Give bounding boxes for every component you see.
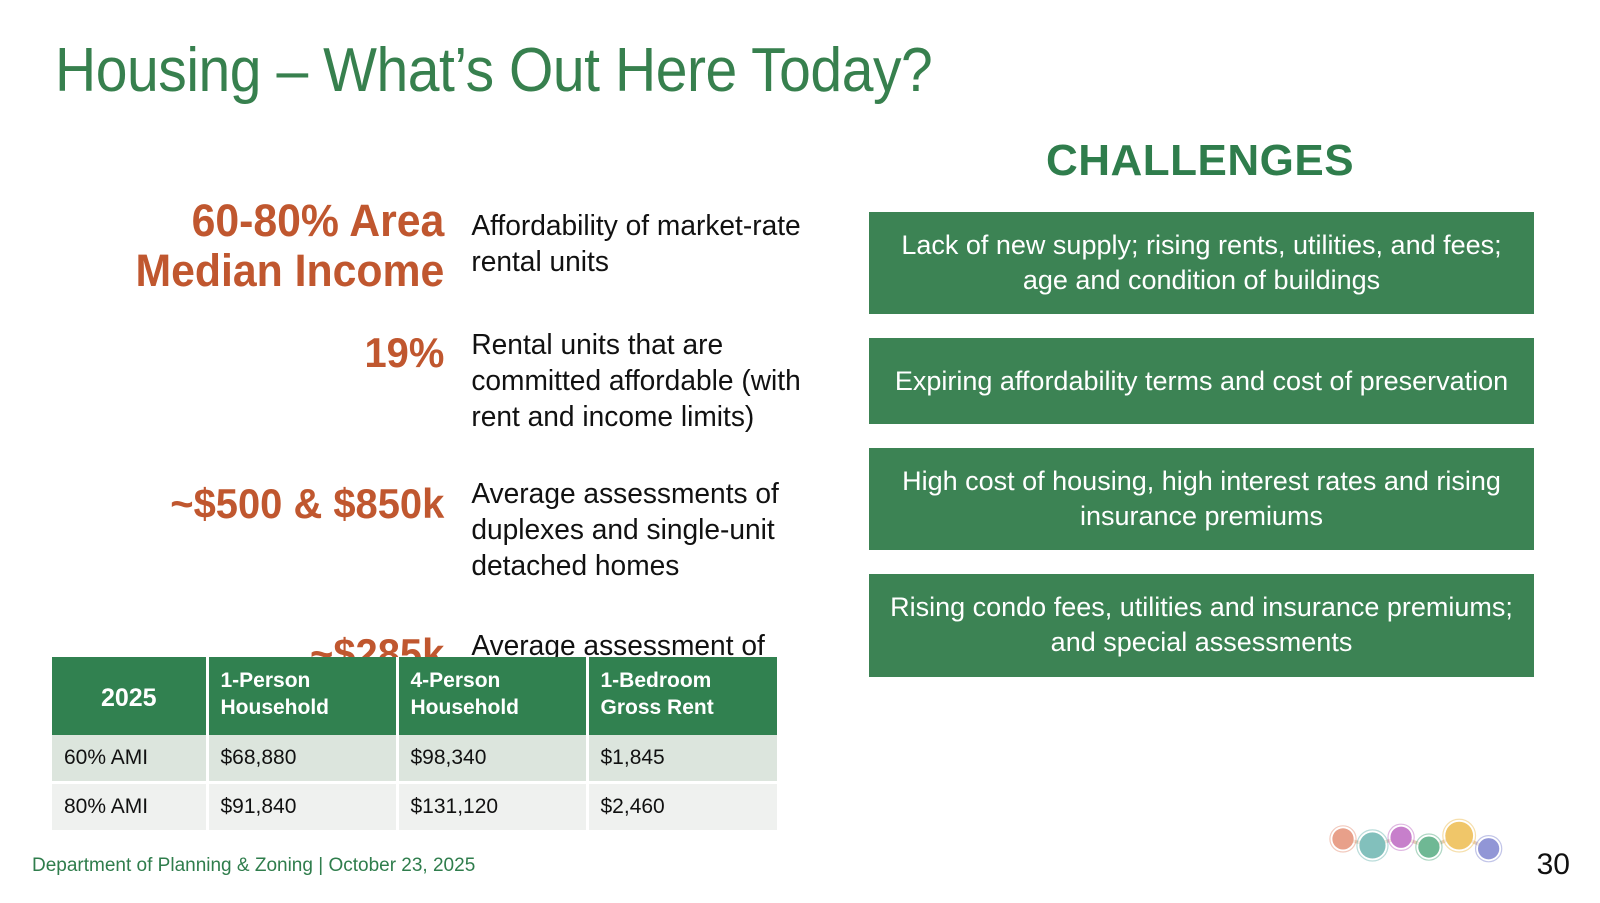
table-header-row: 2025 1-Person Household 4-Person Househo… [52,657,777,735]
ami-limits-table: 2025 1-Person Household 4-Person Househo… [52,657,777,830]
challenges-list: Lack of new supply; rising rents, utilit… [869,212,1534,701]
table-cell-value: $131,120 [397,782,587,830]
statistics-list: 60-80% Area Median Income Affordability … [60,196,820,715]
table-cell-value: $68,880 [207,735,397,783]
logo-dot-2 [1390,827,1411,848]
stat-description: Affordability of market-rate rental unit… [450,196,809,281]
table-cell-value: $91,840 [207,782,397,830]
page-number: 30 [1537,848,1570,882]
challenge-item: Rising condo fees, utilities and insuran… [869,574,1534,676]
page-title: Housing – What’s Out Here Today? [55,38,932,103]
table-cell-value: $2,460 [587,782,777,830]
stat-row: 60-80% Area Median Income Affordability … [60,196,820,297]
table-cell-value: $98,340 [397,735,587,783]
stat-description: Rental units that are committed affordab… [450,321,809,436]
challenge-item: Expiring affordability terms and cost of… [869,338,1534,424]
logo-dot-1 [1359,832,1385,858]
challenge-item: Lack of new supply; rising rents, utilit… [869,212,1534,314]
logo-dot-3 [1418,836,1439,857]
logo-dot-0 [1332,828,1353,849]
table-row: 80% AMI $91,840 $131,120 $2,460 [52,782,777,830]
logo-dot-4 [1445,822,1473,850]
stat-row: 19% Rental units that are committed affo… [60,321,820,436]
logo-dot-5 [1478,838,1499,859]
stat-row: ~$500 & $850k Average assessments of dup… [60,470,820,585]
stat-value: ~$500 & $850k [80,470,451,527]
table-row: 60% AMI $68,880 $98,340 $1,845 [52,735,777,783]
table-cell-label: 60% AMI [52,735,207,783]
table-header-cell-4person: 4-Person Household [397,657,587,735]
connected-dots-logo-icon [1325,812,1505,874]
slide-canvas: Housing – What’s Out Here Today? 60-80% … [0,0,1600,903]
table-header-cell-1person: 1-Person Household [207,657,397,735]
stat-description: Average assessments of duplexes and sing… [450,470,809,585]
challenge-item: High cost of housing, high interest rate… [869,448,1534,550]
table-header-cell-year: 2025 [52,657,207,735]
table-cell-value: $1,845 [587,735,777,783]
table-header-cell-rent: 1-Bedroom Gross Rent [587,657,777,735]
challenges-heading: CHALLENGES [870,136,1530,186]
footer-attribution: Department of Planning & Zoning | Octobe… [32,855,475,877]
stat-value: 60-80% Area Median Income [80,196,451,297]
stat-value: 19% [80,321,451,376]
table-cell-label: 80% AMI [52,782,207,830]
